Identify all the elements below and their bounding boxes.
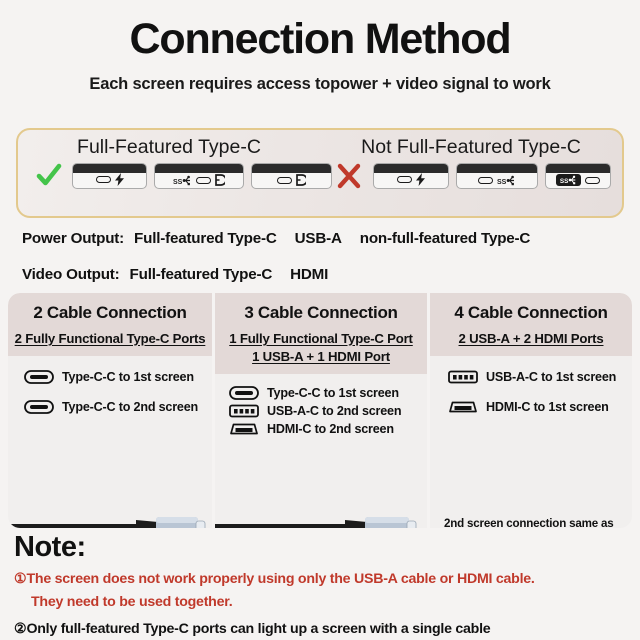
- usb-a-connector-icon: [227, 404, 261, 418]
- displayport-icon: [296, 174, 306, 186]
- column-footnote: 2nd screen connection same as 1st screen: [444, 517, 632, 528]
- cable-type-c-silver-1: [8, 517, 205, 528]
- note-section: Note: ①The screen does not work properly…: [14, 533, 634, 638]
- usb-c-icon: [397, 176, 412, 183]
- displayport-icon: [215, 174, 225, 186]
- column-title: 2 Cable Connection: [8, 303, 212, 323]
- superspeed-badge-icon: SS: [556, 174, 581, 186]
- connection-list: USB-A-C to 1st screen HDMI-C to 1st scre…: [430, 366, 632, 414]
- video-output-item-0: Full-featured Type-C: [130, 266, 273, 283]
- requirement-1: 1 USB-A + 1 HDMI Port: [215, 348, 427, 366]
- superspeed-icon: SS: [173, 175, 192, 186]
- port-usbc-dp: [251, 163, 332, 189]
- connection-label: USB-A-C to 1st screen: [486, 370, 616, 384]
- port-usbc-power-only: [373, 163, 449, 189]
- connection-label: Type-C-C to 2nd screen: [62, 400, 198, 414]
- power-output-label: Power Output:: [22, 230, 124, 247]
- note-continuation-1: They need to be used together.: [14, 594, 634, 612]
- column-header: 2 Cable Connection 2 Fully Functional Ty…: [8, 293, 212, 356]
- red-cross-icon: [332, 163, 366, 189]
- connection-label: HDMI-C to 2nd screen: [267, 422, 394, 436]
- note-text-1: The screen does not work properly using …: [26, 571, 534, 587]
- connection-list: Type-C-C to 1st screen USB-A-C to 2nd sc…: [215, 384, 427, 436]
- connection-label: USB-A-C to 2nd screen: [267, 404, 401, 418]
- connection-row: Type-C-C to 1st screen: [227, 386, 427, 400]
- full-featured-heading: Full-Featured Type-C: [18, 136, 320, 159]
- note-text-2: Only full-featured Type-C ports can ligh…: [26, 621, 490, 637]
- connection-row: HDMI-C to 1st screen: [446, 400, 632, 414]
- not-full-featured-group: SS SS: [332, 163, 622, 189]
- usb-a-connector-icon: [446, 370, 480, 384]
- svg-text:SS: SS: [173, 179, 183, 186]
- column-title: 4 Cable Connection: [430, 303, 632, 323]
- page-title: Connection Method: [0, 0, 640, 61]
- note-marker-1: ①: [14, 571, 26, 587]
- note-title: Note:: [14, 533, 634, 562]
- green-check-icon: [32, 163, 65, 189]
- requirement-0: 2 Fully Functional Type-C Ports: [8, 330, 212, 348]
- column-four-cable: 4 Cable Connection 2 USB-A + 2 HDMI Port…: [430, 293, 632, 528]
- lightning-bolt-icon: [416, 173, 425, 186]
- page-subtitle: Each screen requires access topower + vi…: [0, 75, 640, 94]
- column-two-cable: 2 Cable Connection 2 Fully Functional Ty…: [8, 293, 212, 528]
- note-item-2: ②Only full-featured Type-C ports can lig…: [14, 621, 634, 639]
- column-requirements: 1 Fully Functional Type-C Port 1 USB-A +…: [215, 330, 427, 366]
- power-output-item-2: non-full-featured Type-C: [360, 230, 530, 247]
- usb-c-icon: [585, 177, 600, 184]
- connection-row: Type-C-C to 2nd screen: [22, 400, 212, 414]
- column-body: Type-C-C to 1st screen Type-C-C to 2nd s…: [8, 356, 212, 528]
- lightning-bolt-icon: [115, 173, 124, 186]
- power-output-item-1: USB-A: [295, 230, 342, 247]
- connection-row: USB-A-C to 1st screen: [446, 370, 632, 384]
- port-ss-badge-usbc: SS: [545, 163, 611, 189]
- connection-row: USB-A-C to 2nd screen: [227, 404, 427, 418]
- port-usbc-power: [72, 163, 147, 189]
- power-output-line: Power Output: Full-featured Type-C USB-A…: [22, 230, 544, 247]
- requirement-0: 2 USB-A + 2 HDMI Ports: [430, 330, 632, 348]
- power-output-item-0: Full-featured Type-C: [134, 230, 277, 247]
- usb-c-icon: [277, 177, 292, 184]
- cable-connection-columns: 2 Cable Connection 2 Fully Functional Ty…: [8, 293, 632, 528]
- usb-c-icon: [196, 177, 211, 184]
- column-requirements: 2 USB-A + 2 HDMI Ports: [430, 330, 632, 348]
- superspeed-icon: SS: [497, 175, 516, 186]
- usb-c-connector-icon: [22, 400, 56, 414]
- port-ss-usbc-dp: SS: [154, 163, 244, 189]
- note-marker-2: ②: [14, 621, 26, 637]
- svg-text:SS: SS: [560, 178, 568, 185]
- requirement-0: 1 Fully Functional Type-C Port: [215, 330, 427, 348]
- hdmi-connector-icon: [227, 422, 261, 436]
- usb-c-icon: [96, 176, 111, 183]
- full-featured-group: SS: [32, 163, 332, 189]
- cable-type-c-silver: [215, 517, 416, 528]
- infographic-page: Connection Method Each screen requires a…: [0, 0, 640, 640]
- cable-illustration-group: [8, 510, 212, 528]
- column-body: Type-C-C to 1st screen USB-A-C to 2nd sc…: [215, 374, 427, 528]
- port-usbc-ss: SS: [456, 163, 538, 189]
- column-requirements: 2 Fully Functional Type-C Ports: [8, 330, 212, 348]
- connection-row: HDMI-C to 2nd screen: [227, 422, 427, 436]
- usb-c-connector-icon: [227, 386, 261, 400]
- svg-text:SS: SS: [497, 179, 507, 186]
- connection-list: Type-C-C to 1st screen Type-C-C to 2nd s…: [8, 366, 212, 414]
- connection-label: Type-C-C to 1st screen: [62, 370, 194, 384]
- video-output-label: Video Output:: [22, 266, 120, 283]
- column-header: 4 Cable Connection 2 USB-A + 2 HDMI Port…: [430, 293, 632, 356]
- featured-type-c-banner: Full-Featured Type-C Not Full-Featured T…: [16, 128, 624, 218]
- cable-illustration-group: [215, 516, 427, 528]
- column-three-cable: 3 Cable Connection 1 Fully Functional Ty…: [215, 293, 427, 528]
- usb-c-icon: [478, 177, 493, 184]
- connection-row: Type-C-C to 1st screen: [22, 370, 212, 384]
- connection-label: Type-C-C to 1st screen: [267, 386, 399, 400]
- hdmi-connector-icon: [446, 400, 480, 414]
- not-full-featured-heading: Not Full-Featured Type-C: [320, 136, 622, 159]
- column-header: 3 Cable Connection 1 Fully Functional Ty…: [215, 293, 427, 374]
- column-body: USB-A-C to 1st screen HDMI-C to 1st scre…: [430, 356, 632, 528]
- note-item-1: ①The screen does not work properly using…: [14, 571, 634, 612]
- video-output-line: Video Output: Full-featured Type-C HDMI: [22, 266, 342, 283]
- video-output-item-1: HDMI: [290, 266, 328, 283]
- connection-label: HDMI-C to 1st screen: [486, 400, 609, 414]
- usb-c-connector-icon: [22, 370, 56, 384]
- column-title: 3 Cable Connection: [215, 303, 427, 323]
